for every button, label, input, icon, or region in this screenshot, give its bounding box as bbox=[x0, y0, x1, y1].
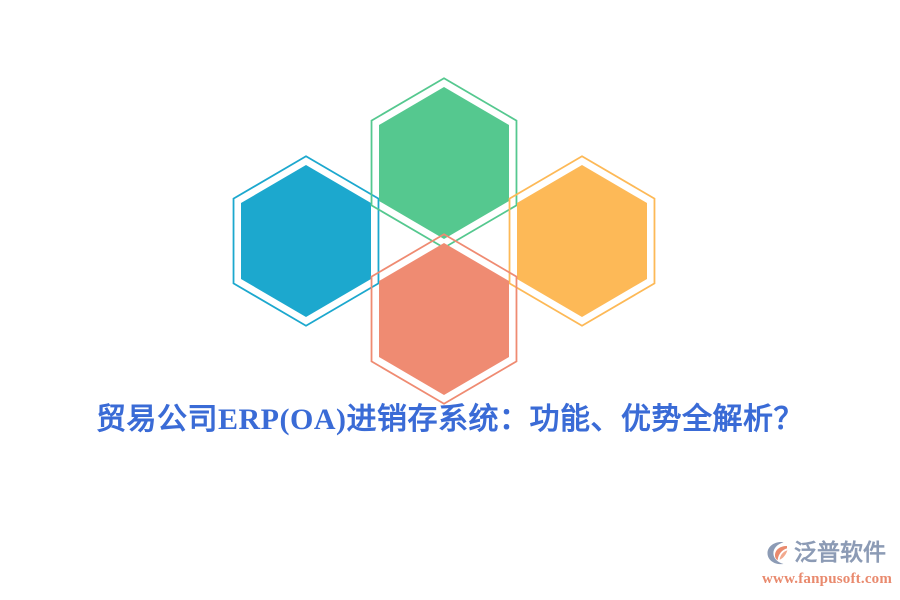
hexagon-cluster-svg bbox=[0, 0, 900, 420]
brand-url: www.fanpusoft.com bbox=[762, 570, 894, 588]
orange-hexagon bbox=[510, 156, 655, 325]
blue-hexagon-fill bbox=[241, 165, 371, 317]
green-hexagon-fill bbox=[379, 87, 509, 239]
fanpu-logo-icon bbox=[762, 538, 792, 568]
brand-row: 泛普软件 bbox=[762, 536, 894, 569]
salmon-hexagon-fill bbox=[379, 243, 509, 395]
hexagon-cluster-graphic bbox=[0, 0, 900, 420]
blue-hexagon bbox=[234, 156, 379, 325]
page-title: 贸易公司ERP(OA)进销存系统：功能、优势全解析？ bbox=[0, 398, 900, 442]
brand-name: 泛普软件 bbox=[794, 538, 886, 568]
green-hexagon bbox=[372, 78, 517, 247]
orange-hexagon-fill bbox=[517, 165, 647, 317]
page-canvas: 贸易公司ERP(OA)进销存系统：功能、优势全解析？ 泛普软件 www.fanp… bbox=[0, 0, 900, 600]
salmon-hexagon bbox=[372, 234, 517, 403]
brand-watermark: 泛普软件 www.fanpusoft.com bbox=[762, 536, 894, 592]
